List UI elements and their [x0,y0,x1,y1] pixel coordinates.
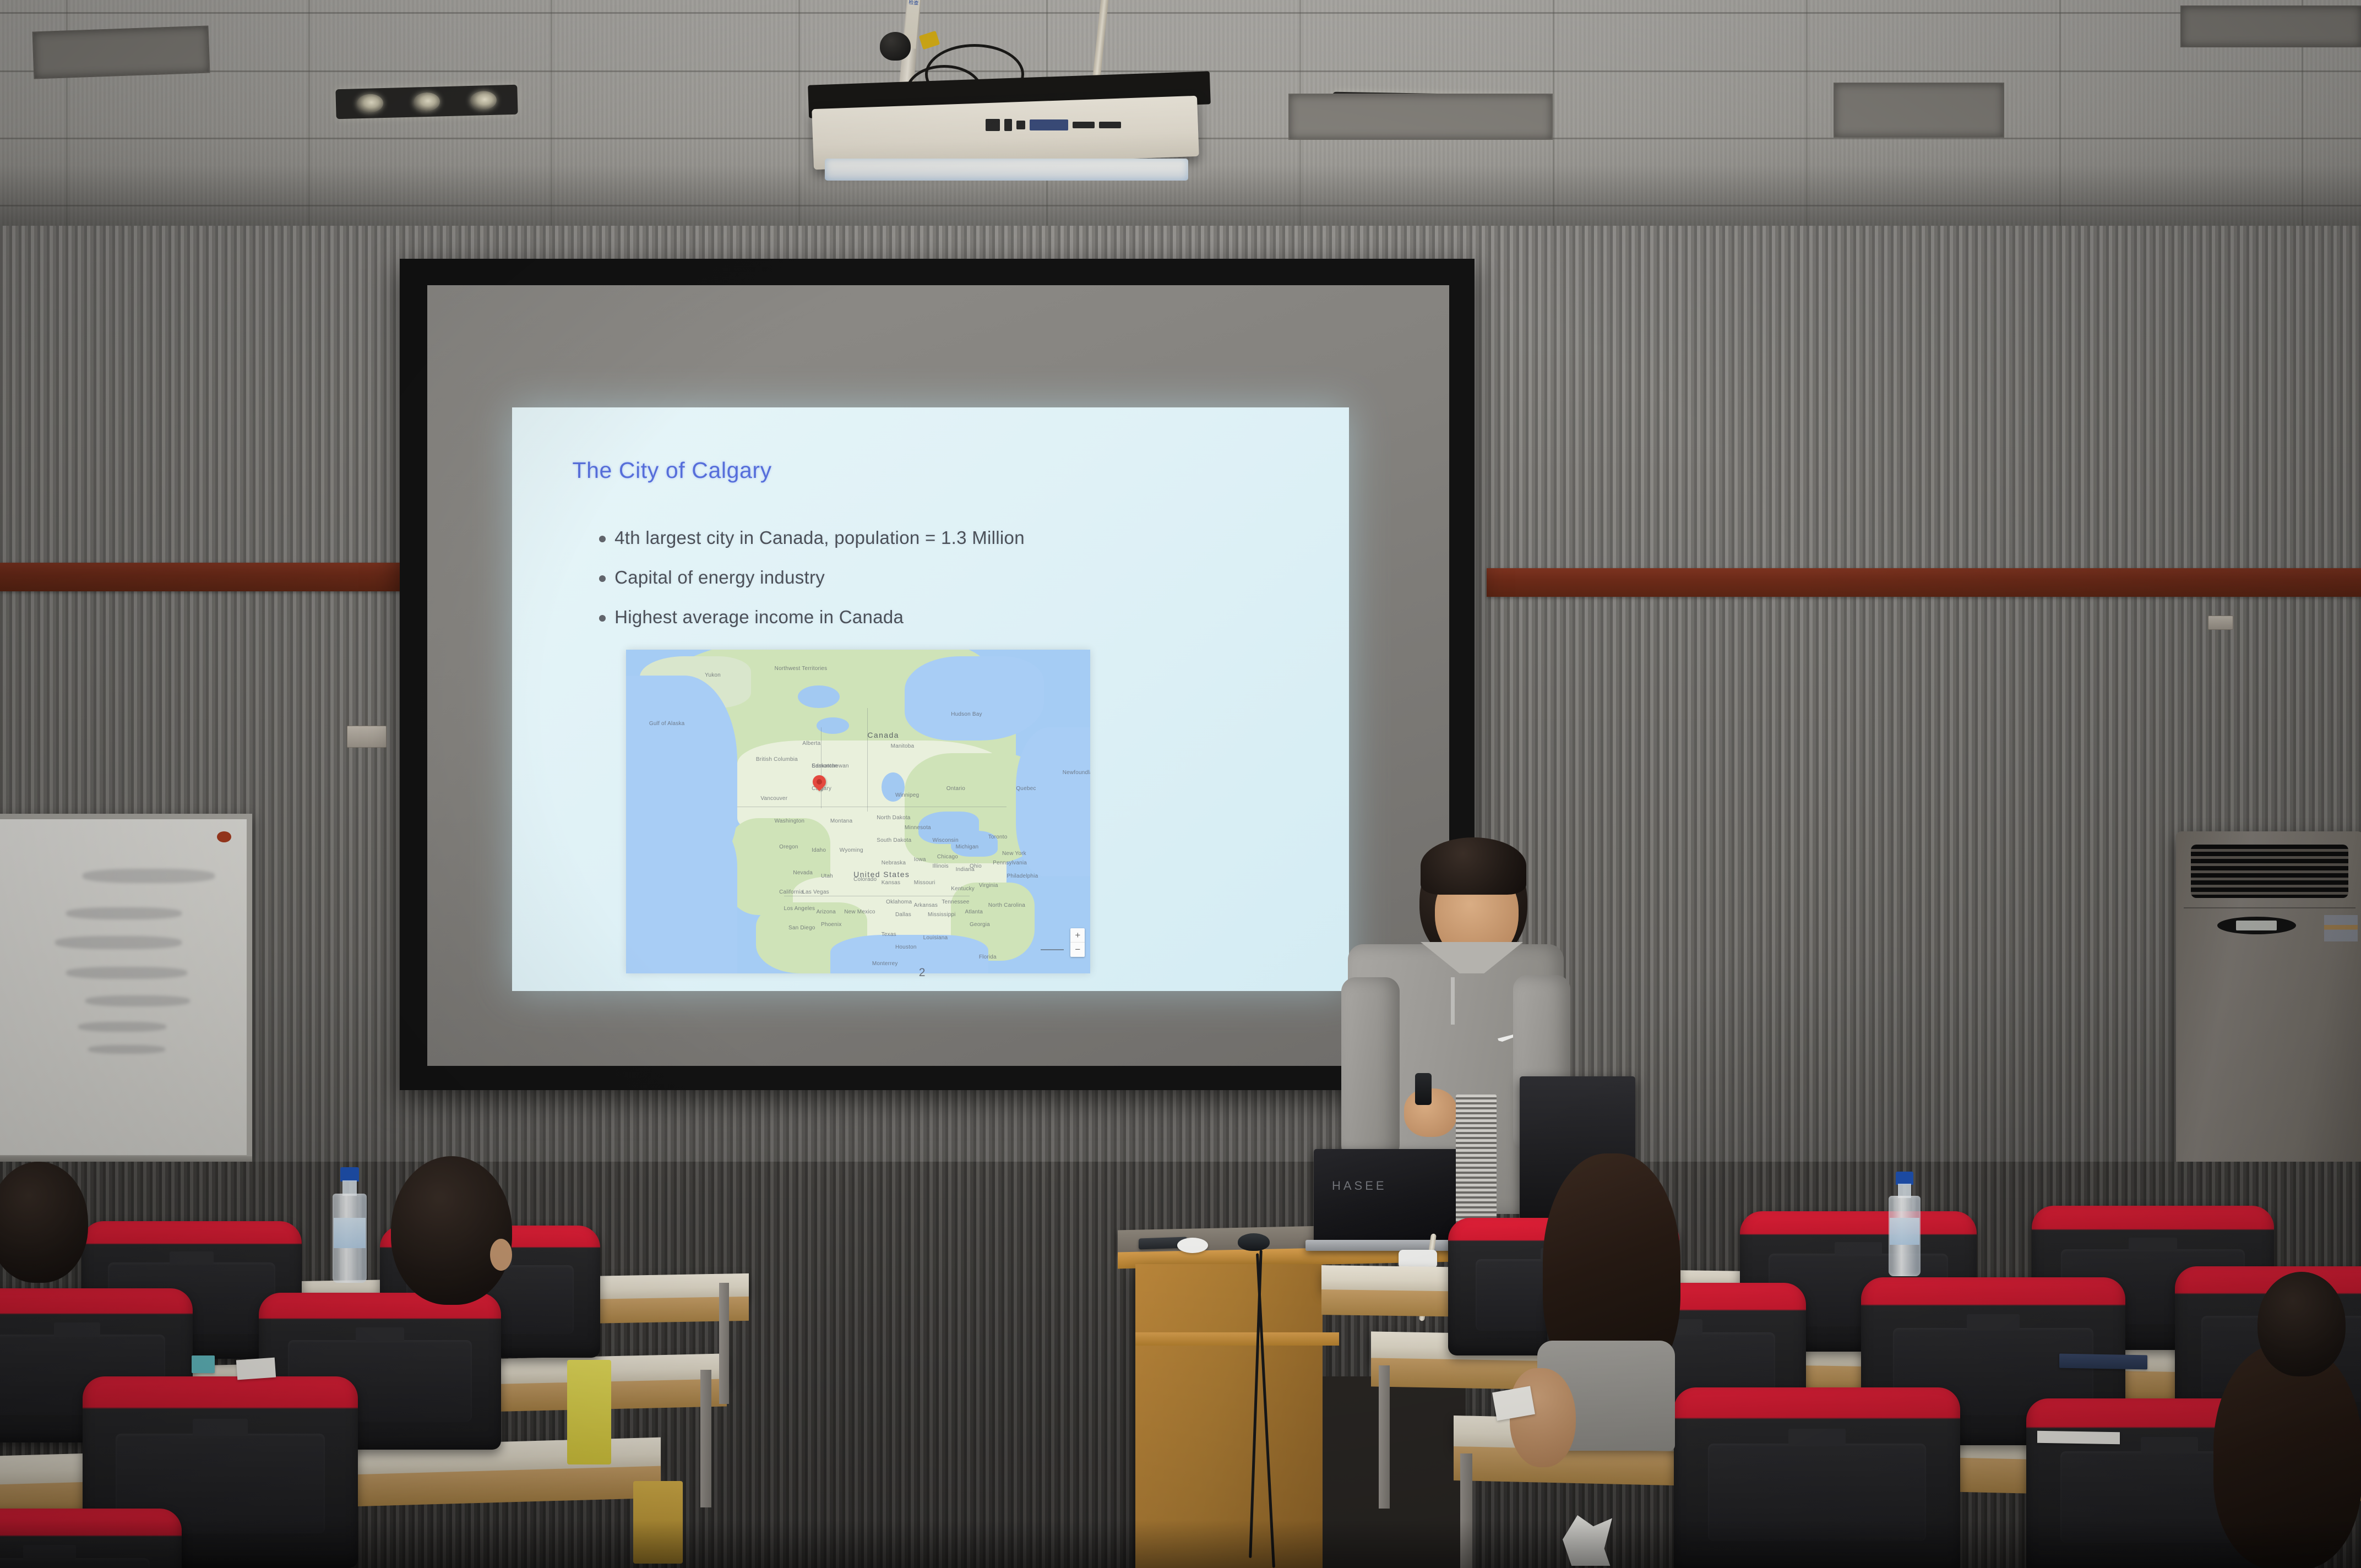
slide-map: CanadaUnited StatesAlbertaSaskatchewanMa… [626,650,1091,973]
map-label: Monterrey [872,961,898,967]
map-label: Nebraska [882,860,906,866]
map-label: Louisiana [923,935,948,941]
air-conditioner-display[interactable] [2217,917,2296,934]
ceiling-vent-far-right [2180,6,2361,47]
student-right-long-hair [1532,1153,1697,1440]
whiteboard [0,814,252,1161]
map-zoom-out-button[interactable]: − [1070,943,1085,957]
slide-bullet-list: 4th largest city in Canada, population =… [599,527,1302,646]
map-label: Iowa [914,857,926,863]
computer-mouse[interactable] [1238,1233,1270,1251]
presenter-left-arm [1341,977,1400,1159]
slide-bullet: 4th largest city in Canada, population =… [599,527,1302,548]
water-bottle-right[interactable] [1889,1172,1921,1276]
map-label: Yukon [705,672,721,678]
map-label: New Mexico [844,909,875,915]
slide-title: The City of Calgary [572,458,771,483]
presentation-clicker[interactable] [1415,1073,1432,1105]
map-label: Phoenix [821,922,842,928]
wall-plate-left [347,726,387,748]
map-scale-bar [1041,949,1064,950]
slide-bullet: Highest average income in Canada [599,607,1302,628]
map-label: Utah [821,873,833,879]
map-label: Dallas [895,912,911,918]
map-label: Alberta [802,741,820,747]
slide-bullet-text: Highest average income in Canada [614,607,904,628]
map-label: Pennsylvania [993,860,1027,866]
map-zoom-in-button[interactable]: + [1070,928,1085,943]
ceiling-light-left [335,85,518,119]
spot-lamp [470,91,497,110]
map-label: Washington [775,818,804,824]
air-conditioner-logo [2324,915,2358,941]
map-label: Illinois [932,863,948,869]
earbuds[interactable] [1177,1238,1208,1253]
map-label: Los Angeles [784,906,815,912]
student-head [2257,1272,2346,1376]
map-label: New York [1002,851,1026,857]
slide-page-number: 2 [919,966,926,979]
map-label: Newfoundland and Labrador [1063,770,1091,776]
student-back-right-head [2257,1272,2346,1376]
ceiling-vent-center [1288,94,1553,140]
map-label: Kentucky [951,886,975,892]
desk-leg [700,1370,711,1507]
map-label: Texas [882,932,896,938]
map-label: Vancouver [760,796,787,802]
power-adapter [1399,1250,1437,1268]
map-label: Nevada [793,870,813,876]
map-label: California [779,889,803,895]
map-label: Mississippi [928,912,956,918]
presenter-hair [1421,837,1526,895]
map-label: Colorado [853,876,877,883]
projector-port-panel [986,119,1121,131]
map-label: Idaho [812,847,826,853]
map-zoom-controls[interactable]: + − [1070,928,1085,957]
map-label: Hudson Bay [951,711,982,717]
student-front-left [0,1162,99,1305]
map-label: Houston [895,944,917,950]
paper-sheet[interactable] [2037,1431,2120,1445]
map-label: Oklahoma [886,899,912,905]
spot-lamp [414,92,440,111]
projector-adjust-knob [880,32,911,61]
map-label: Quebec [1016,786,1036,792]
map-label: Virginia [979,883,998,889]
projector-lens [825,159,1188,181]
slide-bullet-text: Capital of energy industry [614,567,825,588]
map-label: Minnesota [905,825,931,831]
map-label: Manitoba [891,743,915,749]
map-label: Philadelphia [1007,873,1038,879]
map-label: Wyoming [840,847,863,853]
map-label: South Dakota [877,837,911,843]
map-label: Montana [830,818,852,824]
map-label: Chicago [937,854,958,860]
student-ear [490,1239,512,1271]
water-bottle-left[interactable] [333,1167,367,1283]
map-label: Wisconsin [932,837,958,843]
laptop-brand-logo: HASEE [1332,1179,1387,1193]
bullet-dot-icon [599,536,606,542]
wall-plate-right [2208,616,2233,630]
whiteboard-magnet[interactable] [217,831,231,842]
map-label: Northwest Territories [775,666,828,672]
student-arm [1510,1368,1576,1467]
map-label: Gulf of Alaska [649,721,685,727]
yellow-bag [567,1360,611,1464]
map-label: Arkansas [914,902,938,908]
notebook[interactable] [2059,1354,2147,1370]
student-mid-left [391,1156,518,1321]
map-label: North Carolina [988,902,1025,908]
bullet-dot-icon [599,575,606,582]
map-label: North Dakota [877,815,910,821]
map-label: Georgia [970,922,990,928]
air-conditioner[interactable] [2176,831,2361,1211]
ceiling-vent-left [32,25,210,79]
student-head [0,1162,88,1283]
spot-lamp [356,94,383,113]
map-label: Atlanta [965,909,983,915]
map-label: Winnipeg [895,792,919,798]
map-label: Canada [867,731,899,739]
map-label: Ohio [970,863,982,869]
ceiling-vent-right [1834,83,2004,138]
student-head [391,1156,512,1305]
wall-trim-left [0,563,407,591]
map-label: Ontario [946,786,965,792]
map-label: Arizona [817,909,836,915]
map-label: Toronto [988,834,1008,840]
map-label: San Diego [788,925,815,931]
podium-rail [1135,1332,1339,1346]
presentation-slide: The City of Calgary 4th largest city in … [512,407,1349,991]
wall-trim-right [1487,568,2361,597]
map-label: Las Vegas [802,889,829,895]
paper-sheet[interactable] [236,1358,276,1380]
presenter-placket [1451,977,1455,1025]
map-label: Tennessee [942,899,969,905]
desk-leg [719,1283,729,1404]
foreground-shadow [0,1520,2361,1568]
map-label: Kansas [882,880,901,886]
map-label: British Columbia [756,756,798,763]
slide-bullet-text: 4th largest city in Canada, population =… [614,527,1025,548]
desk-leg [1379,1365,1390,1509]
slide-bullet: Capital of energy industry [599,567,1302,588]
bullet-dot-icon [599,615,606,622]
map-label: Oregon [779,844,798,850]
map-label: Edmonton [812,763,837,769]
sticky-note[interactable] [192,1355,215,1373]
map-label: Florida [979,954,997,960]
map-label: Michigan [956,844,979,850]
air-conditioner-vent-grille [2191,845,2348,898]
lecture-hall-photo: 安全 检查 The City of Calgary [0,0,2361,1568]
map-label: Missouri [914,880,935,886]
